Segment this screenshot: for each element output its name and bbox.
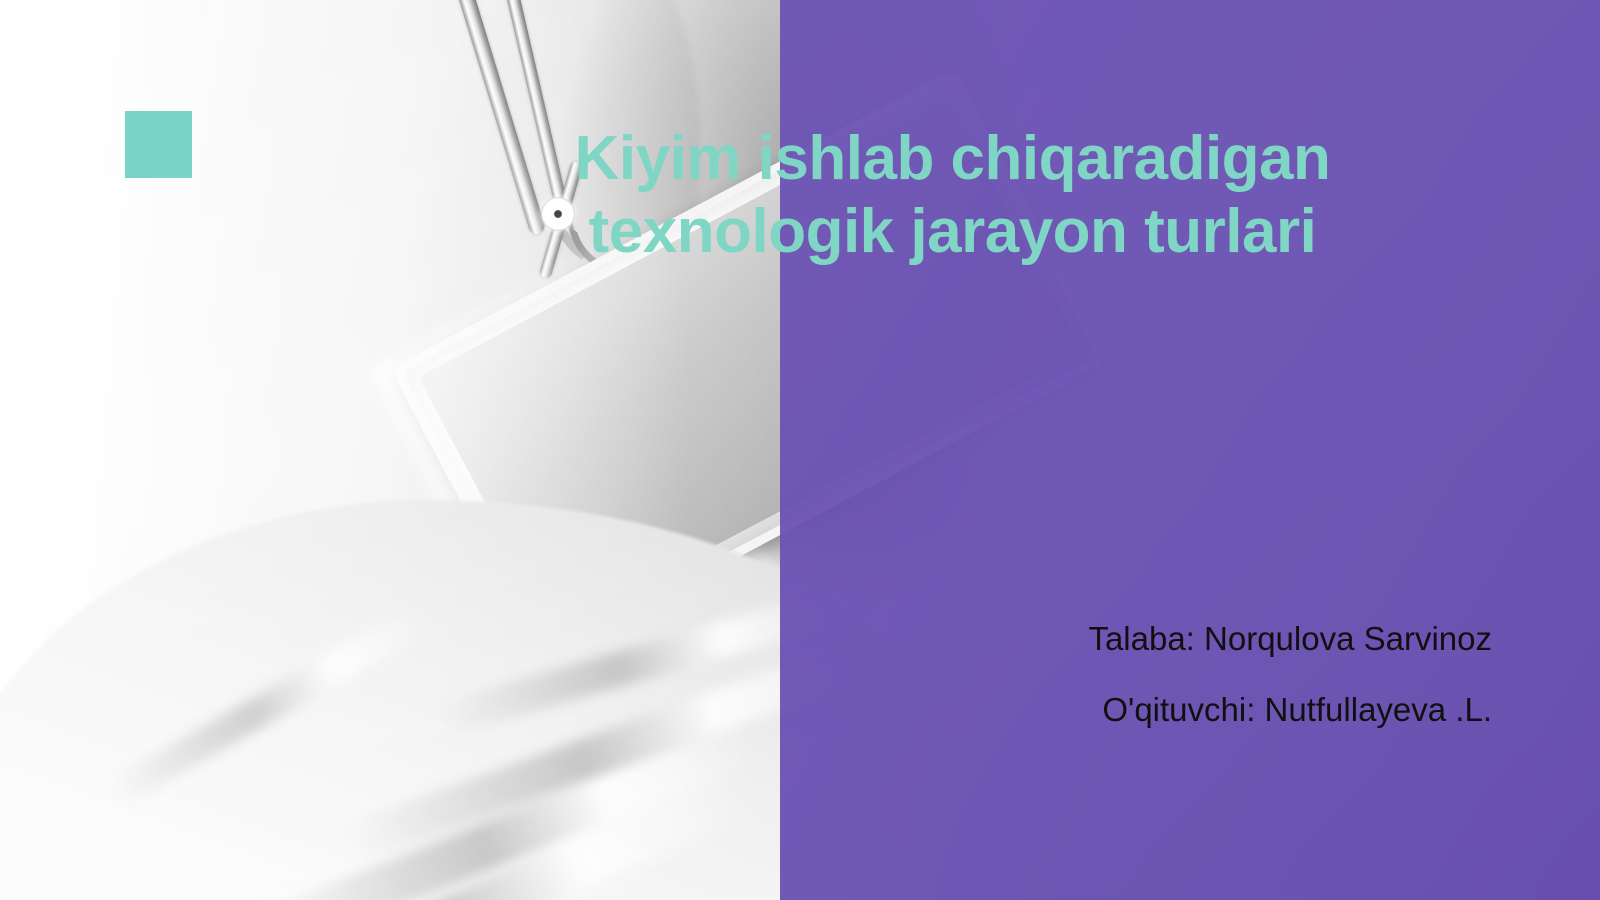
student-name-line: Talaba: Norqulova Sarvinoz [872, 622, 1492, 655]
author-block: Talaba: Norqulova Sarvinoz O'qituvchi: N… [872, 622, 1492, 726]
teal-accent-square [125, 111, 192, 178]
teacher-name-line: O'qituvchi: Nutfullayeva .L. [872, 693, 1492, 726]
title-slide: Kiyim ishlab chiqaradigan texnologik jar… [0, 0, 1600, 900]
slide-title: Kiyim ishlab chiqaradigan texnologik jar… [430, 122, 1475, 268]
